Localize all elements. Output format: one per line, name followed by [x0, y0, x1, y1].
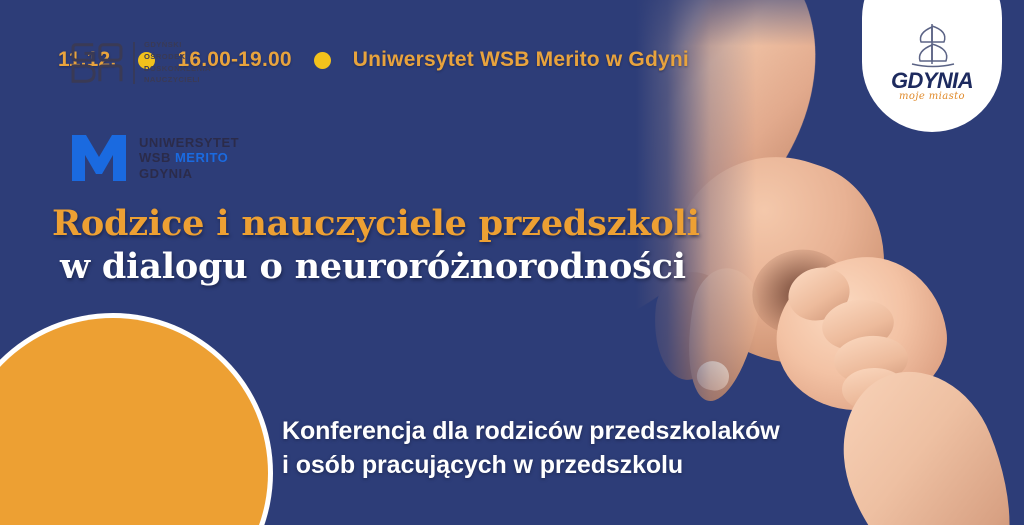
merito-logo: UNIWERSYTET WSB MERITO GDYNIA: [70, 133, 270, 183]
subtitle-line-1: Konferencja dla rodziców przedszkolaków: [282, 415, 780, 449]
title-line-2: w dialogu o neuroróżnorodności: [60, 246, 700, 289]
merito-line-1: UNIWERSYTET: [139, 135, 239, 150]
merito-line-3: GDYNIA: [139, 166, 239, 181]
organisers-circle: [0, 318, 268, 525]
subtitle-line-2: i osób pracujących w przedszkolu: [282, 449, 780, 483]
gdynia-tagline: moje miasto: [862, 91, 1002, 102]
merito-wsb: WSB: [139, 150, 175, 165]
godn-monogram-icon: [70, 40, 124, 86]
godn-line-4: NAUCZYCIELI: [144, 75, 211, 86]
godn-divider: [133, 42, 135, 84]
godn-line-2: OŚRODEK: [144, 52, 211, 63]
page-title: Rodzice i nauczyciele przedszkoli w dial…: [52, 203, 700, 288]
godn-line-1: GDYŃSKI: [144, 40, 211, 51]
event-venue: Uniwersytet WSB Merito w Gdyni: [353, 48, 689, 72]
page-subtitle: Konferencja dla rodziców przedszkolaków …: [282, 415, 780, 482]
merito-brand: MERITO: [175, 150, 228, 165]
title-line-1: Rodzice i nauczyciele przedszkoli: [52, 203, 700, 246]
conference-poster: 11.12. 16.00-19.00 Uniwersytet WSB Merit…: [0, 0, 1024, 525]
merito-wordmark: UNIWERSYTET WSB MERITO GDYNIA: [139, 135, 239, 181]
godn-wordmark: GDYŃSKI OŚRODEK DOSKONALENIA NAUCZYCIELI: [144, 40, 211, 86]
godn-logo: GDYŃSKI OŚRODEK DOSKONALENIA NAUCZYCIELI: [70, 40, 270, 86]
godn-line-3: DOSKONALENIA: [144, 64, 211, 75]
merito-m-icon: [70, 133, 128, 183]
organiser-logos: GDYŃSKI OŚRODEK DOSKONALENIA NAUCZYCIELI…: [70, 40, 270, 183]
sailing-ship-icon: [902, 22, 964, 68]
merito-line-2: WSB MERITO: [139, 150, 239, 165]
dot-icon: [314, 52, 331, 69]
